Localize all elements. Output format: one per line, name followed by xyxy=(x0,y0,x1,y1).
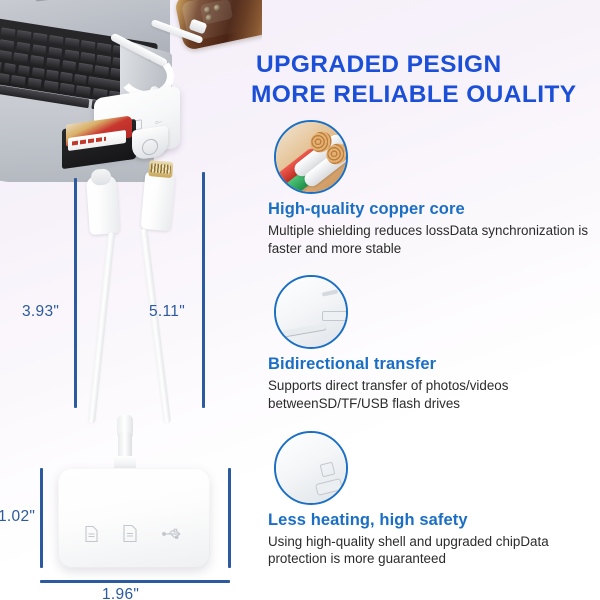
headline-line-2: MORE RELIABLE OUALITY xyxy=(251,80,596,110)
cable-strand-left xyxy=(88,232,115,424)
lightning-connector xyxy=(141,171,176,231)
feature-title: High-quality copper core xyxy=(268,200,600,219)
sd-card-slot-icon xyxy=(122,524,138,543)
product-marketing-image: UPGRADED PESIGN MORE RELIABLE OUALITY xyxy=(0,0,600,600)
feature-description: Using high-quality shell and upgraded ch… xyxy=(268,533,600,568)
usb-trident-icon xyxy=(162,527,184,541)
feature-description: Supports direct transfer of photos/video… xyxy=(268,377,600,412)
dim-rule-lightning xyxy=(202,172,205,408)
adapter-ports-icon xyxy=(274,275,348,349)
feature-item-less-heating: Less heating, high safety Using high-qua… xyxy=(268,431,600,568)
dim-label-height: 1.02" xyxy=(0,508,35,526)
feature-title: Bidirectional transfer xyxy=(268,355,600,374)
usb-flash-drive xyxy=(132,125,168,160)
adapter-port-icons xyxy=(58,524,210,543)
feature-title: Less heating, high safety xyxy=(268,511,600,530)
headline: UPGRADED PESIGN MORE RELIABLE OUALITY xyxy=(256,50,596,110)
usb-c-connector xyxy=(86,175,120,235)
dim-rule-height xyxy=(40,468,43,568)
dim-rule-height-right xyxy=(228,468,231,568)
dim-label-width: 1.96" xyxy=(102,586,139,600)
headline-line-1: UPGRADED PESIGN xyxy=(256,50,596,80)
dim-label-usbc: 3.93" xyxy=(22,303,59,321)
feature-item-copper-core: High-quality copper core Multiple shield… xyxy=(268,120,600,257)
dim-label-lightning: 5.11" xyxy=(149,303,185,321)
cable-strand-right xyxy=(140,228,171,423)
adapter-body xyxy=(58,468,210,568)
feature-list: High-quality copper core Multiple shield… xyxy=(268,120,600,586)
smartphone xyxy=(174,0,262,51)
dim-rule-usbc xyxy=(74,178,77,408)
phone-camera-module xyxy=(200,0,234,25)
dimension-diagram: 3.93" 5.11" 1.02" 1.96" xyxy=(0,160,252,600)
tf-card-slot-icon xyxy=(84,525,99,543)
dim-rule-width xyxy=(40,580,230,583)
adapter-shell-icon xyxy=(274,431,348,505)
product-photo-scene xyxy=(0,0,262,182)
feature-item-bidirectional-transfer: Bidirectional transfer Supports direct t… xyxy=(268,275,600,412)
copper-wire-icon xyxy=(274,120,348,194)
feature-description: Multiple shielding reduces lossData sync… xyxy=(268,222,600,257)
